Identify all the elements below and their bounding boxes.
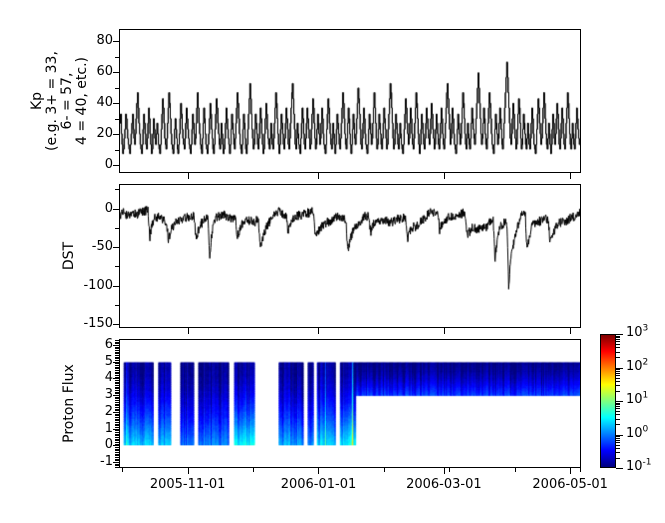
colorbar-tick-minor: [616, 352, 620, 353]
y-tick-minor: [115, 385, 119, 386]
y-tick-minor: [115, 119, 119, 120]
colorbar-tick-minor: [616, 344, 620, 345]
x-tick-major: [444, 328, 445, 334]
colorbar-tick-minor: [616, 406, 620, 407]
colorbar-tick-label: 103: [626, 326, 648, 339]
colorbar-tick-major: [616, 368, 623, 369]
colorbar-tick-minor: [616, 336, 620, 337]
y-tick-minor: [115, 150, 119, 151]
colorbar-tick-minor: [616, 391, 620, 392]
x-tick-major: [444, 468, 445, 474]
axis-title-line: (e.g. 3+ = 33,: [45, 29, 60, 173]
colorbar-tick-label: 102: [626, 360, 648, 373]
x-tick-major: [570, 468, 571, 474]
y-tick-minor: [115, 228, 119, 229]
kp-panel: [119, 29, 581, 173]
y-tick-label: -1: [0, 455, 122, 468]
x-tick-major: [318, 173, 319, 179]
dst-panel: [119, 184, 581, 328]
y-tick-label: 6: [0, 338, 122, 351]
colorbar-tick-minor: [616, 378, 620, 379]
y-tick-minor: [115, 419, 119, 420]
y-tick-minor: [115, 88, 119, 89]
y-tick-minor: [115, 57, 119, 58]
colorbar-tick-minor: [616, 408, 620, 409]
colorbar-tick-major: [616, 435, 623, 436]
x-tick-major: [444, 173, 445, 179]
x-tick-major: [570, 328, 571, 334]
y-tick-label: -100: [0, 279, 122, 292]
colorbar-tick-minor: [616, 385, 620, 386]
y-tick-minor: [115, 189, 119, 190]
y-tick-minor: [115, 352, 119, 353]
x-tick-major: [188, 468, 189, 474]
axis-title-line: DST: [62, 184, 77, 328]
kp-axis-title: Kp(e.g. 3+ = 33,6- = 57,4 = 40, etc.): [30, 29, 90, 173]
colorbar: [600, 334, 616, 468]
y-tick-minor: [115, 435, 119, 436]
x-tick-major: [318, 468, 319, 474]
y-tick-label: -150: [0, 317, 122, 330]
colorbar-tick-label: 101: [626, 393, 648, 406]
colorbar-tick-minor: [616, 371, 620, 372]
colorbar-tick-minor: [616, 375, 620, 376]
figure-root: 020406080 Kp(e.g. 3+ = 33,6- = 57,4 = 40…: [0, 0, 665, 523]
colorbar-tick-minor: [616, 419, 620, 420]
x-tick-major: [188, 328, 189, 334]
y-tick-minor: [115, 452, 119, 453]
x-tick-label: 2006-05-01: [515, 478, 625, 491]
x-tick-minor: [515, 468, 516, 472]
dst-line-plot: [120, 185, 580, 327]
colorbar-tick-minor: [616, 339, 620, 340]
colorbar-tick-minor: [616, 458, 620, 459]
colorbar-tick-minor: [616, 448, 620, 449]
colorbar-tick-minor: [616, 414, 620, 415]
x-tick-minor: [384, 468, 385, 472]
dst-axis-title: DST: [62, 184, 77, 328]
colorbar-tick-minor: [616, 436, 620, 437]
colorbar-tick-minor: [616, 424, 620, 425]
colorbar-gradient: [600, 334, 616, 468]
x-tick-major: [318, 328, 319, 334]
colorbar-tick-minor: [616, 369, 620, 370]
colorbar-tick-minor: [616, 337, 620, 338]
colorbar-tick-major: [616, 334, 623, 335]
x-tick-label: 2006-03-01: [389, 478, 499, 491]
colorbar-tick-minor: [616, 452, 620, 453]
x-tick-minor: [122, 468, 123, 472]
kp-line-plot: [120, 30, 580, 172]
x-tick-label: 2005-11-01: [133, 478, 243, 491]
colorbar-tick-label: 10-1: [626, 460, 652, 473]
y-tick-minor: [115, 266, 119, 267]
y-tick-minor: [115, 368, 119, 369]
colorbar-tick-minor: [616, 341, 620, 342]
colorbar-tick-minor: [616, 373, 620, 374]
y-tick-minor: [115, 402, 119, 403]
axis-title-line: Kp: [30, 29, 45, 173]
colorbar-tick-minor: [616, 438, 620, 439]
colorbar-tick-label: 100: [626, 427, 648, 440]
colorbar-tick-minor: [616, 411, 620, 412]
colorbar-tick-minor: [616, 404, 620, 405]
colorbar-tick-major: [616, 468, 623, 469]
axis-title-line: 4 = 40, etc.): [75, 29, 90, 173]
colorbar-tick-minor: [616, 357, 620, 358]
y-tick-label: 0: [0, 202, 122, 215]
x-tick-minor: [253, 468, 254, 472]
colorbar-tick-minor: [616, 442, 620, 443]
colorbar-tick-minor: [616, 347, 620, 348]
colorbar-tick-minor: [616, 403, 620, 404]
colorbar-tick-major: [616, 401, 623, 402]
proton-flux-heatmap: [120, 340, 580, 467]
proton-flux-axis-title: Proton Flux: [62, 339, 77, 468]
x-tick-minor: [580, 468, 581, 472]
y-tick-minor: [115, 305, 119, 306]
axis-title-line: 6- = 57,: [60, 29, 75, 173]
colorbar-tick-minor: [616, 381, 620, 382]
axis-title-line: Proton Flux: [62, 339, 77, 468]
x-tick-major: [188, 173, 189, 179]
colorbar-tick-minor: [616, 445, 620, 446]
x-tick-minor: [449, 468, 450, 472]
x-tick-major: [570, 173, 571, 179]
proton-flux-panel: [119, 339, 581, 468]
colorbar-tick-minor: [616, 440, 620, 441]
x-tick-label: 2006-01-01: [263, 478, 373, 491]
